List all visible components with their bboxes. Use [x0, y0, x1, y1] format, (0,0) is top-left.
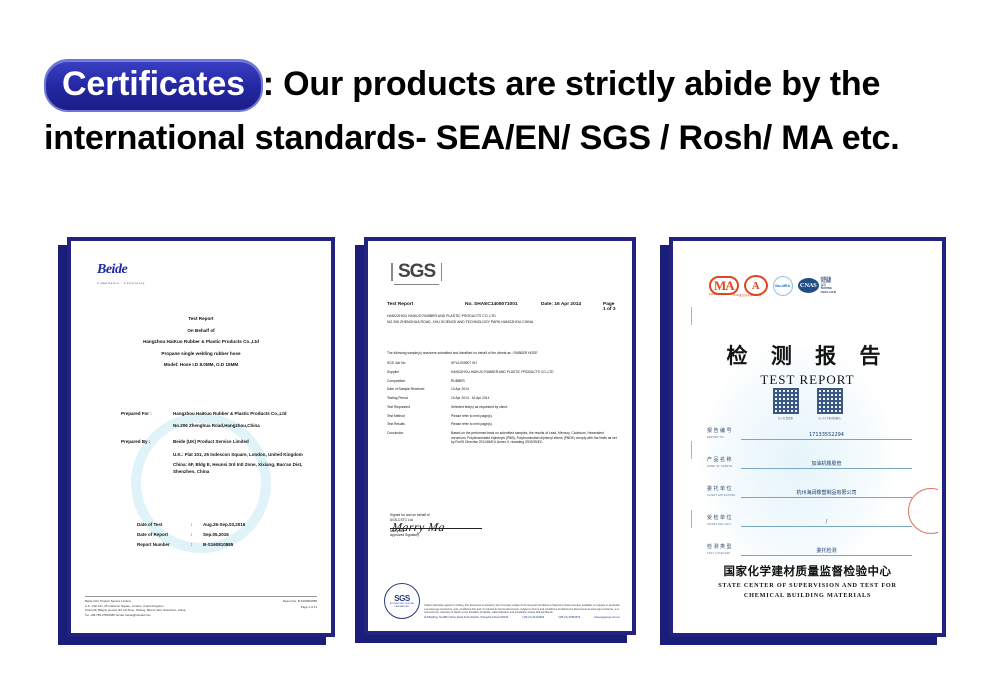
- sgs-accreditation-seal: SGS ACCREDITED TESTING LABORATORY: [384, 583, 420, 619]
- certificates-badge: Certificates: [44, 59, 263, 112]
- date-colon: :: [191, 540, 203, 550]
- row-key: Supplier: [387, 370, 451, 375]
- red-stamp-icon: [908, 488, 938, 534]
- row-value: Selected test(s) as requested by client.: [451, 405, 618, 410]
- decor-rule: [691, 510, 692, 528]
- qr-caption: 扫一扫 查真伪: [773, 416, 799, 420]
- sgs-client-address: HANGZHOU HAIKUO RUBBER AND PLASTIC PRODU…: [387, 313, 618, 326]
- row-key: Test Method: [387, 414, 451, 419]
- field-label: 产品名称 NAME OF SAMPLE: [707, 458, 741, 469]
- field-label: 委托单位 CLIENT ENTRUSTED: [707, 487, 741, 498]
- date-of-report-value: Sep.05,2016: [203, 530, 229, 540]
- certificate-ma[interactable]: MA A ilac-MRA CNAS 中国合格 评定国家 认可 TESTING …: [660, 237, 937, 637]
- certificate-sgs[interactable]: SGS Test Report No. SHAEC1405071001 Date…: [355, 237, 627, 635]
- beide-center-line: Test Report: [75, 313, 327, 325]
- seal-text: SGS: [394, 594, 409, 603]
- qr-code-row: 扫一扫 查真伪 扫一扫 手机浏览报告: [677, 388, 938, 420]
- org-name-english-line1: STATE CENTER OF SUPERVISION AND TEST FOR: [677, 582, 938, 589]
- date-row: Report Number : B-S160810885: [137, 540, 245, 550]
- headline-line1: Our products are strictly abide by the: [283, 65, 880, 103]
- sgs-address: 3rd Building, No.889 Yishan Road Xuhui D…: [424, 616, 508, 619]
- table-row: Supplier HANGZHOU HAIKUO RUBBER AND PLAS…: [387, 370, 618, 375]
- sgs-report-page: Page 1 of 3: [603, 302, 616, 312]
- date-of-test-value: Aug.26-Sep.03,2016: [203, 520, 245, 530]
- logo-code-row: 1900021112087 2013(量)认证字(Z0145)号: [709, 293, 761, 297]
- prepared-for-address: No.206 Zhenghua Road,Hangzhou,China: [173, 420, 313, 432]
- sgs-fax: f (86-21) 64953679: [558, 616, 580, 619]
- beide-center-line: Propane single welding rubber hose: [75, 348, 327, 360]
- field-label-en: TEST CATEGORY: [707, 551, 741, 557]
- certificate-page: MA A ilac-MRA CNAS 中国合格 评定国家 认可 TESTING …: [677, 245, 938, 629]
- field-value: /: [741, 519, 912, 528]
- cnas-icon: CNAS: [798, 278, 819, 293]
- ma-field-list: 报告编号 REPORT NO. 17133552294 产品名称 NAME OF…: [707, 429, 912, 574]
- row-key: Composition: [387, 379, 451, 384]
- field-row: 检测类型 TEST CATEGORY 委托检测: [707, 545, 912, 556]
- row-key: Test Results: [387, 422, 451, 427]
- qr-icon: [817, 388, 843, 414]
- qr-code-mobile[interactable]: 扫一扫 手机浏览报告: [817, 388, 843, 420]
- beide-center-block: Test Report On Behalf of Hangzhou HaiKuo…: [75, 313, 327, 371]
- date-colon: :: [191, 530, 203, 540]
- row-key: Date of Sample Received: [387, 387, 451, 392]
- field-label-en: REPORT NO.: [707, 435, 741, 441]
- field-label-en: NAME OF SAMPLE: [707, 464, 741, 470]
- field-value: 17133552294: [741, 432, 912, 441]
- row-value: SP14-009907 SH: [451, 361, 618, 366]
- footer-page-no: Page 1 of 11: [283, 605, 317, 611]
- certificate-beide[interactable]: Beide Compliance · Laboratory Test Repor…: [58, 237, 326, 637]
- footer-line: Tel: +86-755-27834088, Email: beide@hotm…: [85, 613, 185, 617]
- headline-colon: :: [263, 65, 274, 103]
- beide-logo-text: Beide: [97, 262, 127, 277]
- row-value: Based on the performed tests on submitte…: [451, 431, 618, 445]
- table-row: Composition RUBBER: [387, 379, 618, 384]
- beide-center-line: On Behalf of: [75, 325, 327, 337]
- sgs-report-title: Test Report: [387, 302, 465, 312]
- sgs-contact-row: 3rd Building, No.889 Yishan Road Xuhui D…: [424, 616, 620, 619]
- title-chinese: 检 测 报 告: [677, 340, 938, 370]
- row-key: Testing Period: [387, 396, 451, 401]
- prepared-for-name: Hangzhou HaiKuo Rubber & Plastic Product…: [173, 408, 287, 420]
- field-row: 报告编号 REPORT NO. 17133552294: [707, 429, 912, 440]
- certificates-row: Beide Compliance · Laboratory Test Repor…: [0, 237, 1000, 647]
- field-label: 检测类型 TEST CATEGORY: [707, 545, 741, 556]
- date-of-report-label: Date of Report: [137, 530, 191, 540]
- fine-print-text: Unless otherwise agreed in writing, this…: [424, 604, 620, 614]
- sgs-report-no: No. SHAEC1405071001: [465, 302, 541, 312]
- field-label: 受检单位 INSPECTED UNIT: [707, 516, 741, 527]
- report-number-label: Report Number: [137, 540, 191, 550]
- table-row: Conclusion Based on the performed tests …: [387, 431, 618, 445]
- decor-rule: [691, 307, 692, 325]
- headline-line2: international standards- SEA/EN/ SGS / R…: [44, 112, 970, 164]
- org-name-chinese: 国家化学建材质量监督检验中心: [677, 563, 938, 579]
- field-row: 产品名称 NAME OF SAMPLE 加油机橡胶管: [707, 458, 912, 469]
- sgs-website: www.sgsgroup.com.cn: [594, 616, 620, 619]
- handwritten-signature: Marry Ma: [392, 525, 482, 530]
- cnas-line: CNAS L0740: [821, 291, 836, 294]
- prepared-for-label: Prepared For :: [121, 408, 173, 420]
- field-label-en: INSPECTED UNIT: [707, 522, 741, 528]
- table-row: Date of Sample Received 10 Apr 2014: [387, 387, 618, 392]
- field-value: 加油机橡胶管: [741, 460, 912, 470]
- issuing-organization: 国家化学建材质量监督检验中心 STATE CENTER OF SUPERVISI…: [677, 563, 938, 599]
- ma-title-block: 检 测 报 告 TEST REPORT: [677, 340, 938, 388]
- org-name-english-line2: CHEMICAL BUILDING MATERIALS: [677, 592, 938, 599]
- report-number-value: B-S160810885: [203, 540, 233, 550]
- certificate-frame: Beide Compliance · Laboratory Test Repor…: [67, 237, 335, 637]
- page-headline: Certificates: Our products are strictly …: [44, 58, 970, 164]
- ma-code: 1900021112087: [709, 293, 727, 297]
- cnas-caption: 中国合格 评定国家 认可 TESTING CNAS L0740: [821, 277, 836, 294]
- date-of-test-label: Date of Test: [137, 520, 191, 530]
- beide-parties-block: Prepared For : Hangzhou HaiKuo Rubber & …: [121, 408, 313, 475]
- certificate-page: SGS Test Report No. SHAEC1405071001 Date…: [372, 245, 628, 627]
- row-value: Please refer to next page(s).: [451, 414, 618, 419]
- beide-dates-block: Date of Test : Aug.26-Sep.03,2016 Date o…: [137, 520, 245, 550]
- date-colon: :: [191, 520, 203, 530]
- prepared-for-row: Prepared For : Hangzhou HaiKuo Rubber & …: [121, 408, 313, 420]
- row-value: 10 Apr 2014 - 16 Apr 2014: [451, 396, 618, 401]
- field-value: 委托检测: [741, 547, 912, 557]
- sgs-intro-text: The following sample(s) was/were submitt…: [387, 351, 618, 356]
- certificate-page: Beide Compliance · Laboratory Test Repor…: [75, 245, 327, 629]
- certificate-frame: SGS Test Report No. SHAEC1405071001 Date…: [364, 237, 636, 635]
- title-english: TEST REPORT: [677, 372, 938, 388]
- beide-footer: Beide (UK) Product Service Limited U.K.:…: [85, 596, 317, 617]
- prepared-by-label: Prepared By :: [121, 436, 173, 448]
- beide-logo: Beide Compliance · Laboratory: [97, 263, 145, 290]
- sgs-header-row: Test Report No. SHAEC1405071001 Date: 16…: [387, 302, 616, 312]
- field-value: 杭州海阔橡塑制品有限公司: [741, 489, 912, 499]
- table-row: Testing Period 10 Apr 2014 - 16 Apr 2014: [387, 396, 618, 401]
- table-row: Test Requested Selected test(s) as reque…: [387, 405, 618, 410]
- sgs-tel: t (86-21) 61402666: [522, 616, 544, 619]
- prepared-by-address-uk: U.K.: Flat 101, 25 Indescon Square, Lond…: [173, 451, 313, 458]
- cnas-logo: CNAS 中国合格 评定国家 认可 TESTING CNAS L0740: [798, 277, 836, 294]
- client-line: NO.206 ZHENGHUA ROAD, XHU SCIENCE AND TE…: [387, 319, 618, 325]
- beide-center-line: Hangzhou HaiKuo Rubber & Plastic Product…: [75, 336, 327, 348]
- qr-caption: 扫一扫 手机浏览报告: [817, 416, 843, 420]
- qr-code-verify[interactable]: 扫一扫 查真伪: [773, 388, 799, 420]
- row-value: Please refer to next page(s).: [451, 422, 618, 427]
- field-row: 委托单位 CLIENT ENTRUSTED 杭州海阔橡塑制品有限公司: [707, 487, 912, 498]
- row-value: RUBBER: [451, 379, 618, 384]
- row-value: 10 Apr 2014: [451, 387, 618, 392]
- table-row: SGS Job No. SP14-009907 SH: [387, 361, 618, 366]
- prepared-by-address-cn: China: 6F, Bldg E, Heunsi 3rd Intl Zone,…: [173, 461, 313, 475]
- table-row: Test Method Please refer to next page(s)…: [387, 414, 618, 419]
- cal-code: 2013(量)认证字(Z0145)号: [733, 293, 761, 297]
- sgs-signature-block: Signed for and on behalf of SGS-CSTC Ltd…: [390, 513, 482, 538]
- qr-icon: [773, 388, 799, 414]
- certificate-frame: MA A ilac-MRA CNAS 中国合格 评定国家 认可 TESTING …: [669, 237, 946, 637]
- date-row: Date of Report : Sep.05,2016: [137, 530, 245, 540]
- signatory-role: Approved Signatory: [390, 533, 482, 538]
- prepared-by-name: Beide (UK) Product Service Limited: [173, 436, 249, 448]
- row-key: SGS Job No.: [387, 361, 451, 366]
- beide-center-line: Model: Hose I.D 8.0MM, O.D 15MM: [75, 359, 327, 371]
- field-row: 受检单位 INSPECTED UNIT /: [707, 516, 912, 527]
- beide-footer-left: Beide (UK) Product Service Limited U.K.:…: [85, 599, 185, 617]
- field-label: 报告编号 REPORT NO.: [707, 429, 741, 440]
- date-row: Date of Test : Aug.26-Sep.03,2016: [137, 520, 245, 530]
- seal-subtext: ACCREDITED TESTING LABORATORY: [385, 603, 419, 609]
- sgs-report-date: Date: 16 Apr 2014: [541, 302, 603, 312]
- row-key: Test Requested: [387, 405, 451, 410]
- row-value: HANGZHOU HAIKUO RUBBER AND PLASTIC PRODU…: [451, 370, 618, 375]
- sgs-logo: SGS: [394, 261, 439, 285]
- table-row: Test Results Please refer to next page(s…: [387, 422, 618, 427]
- beide-footer-right: Report No. B-S160810885 Page 1 of 11: [283, 599, 317, 617]
- beide-logo-subtitle: Compliance · Laboratory: [97, 277, 145, 290]
- ilac-mra-icon: ilac-MRA: [773, 276, 793, 296]
- row-key: Conclusion: [387, 431, 451, 445]
- sgs-detail-table: SGS Job No. SP14-009907 SH Supplier HANG…: [387, 361, 618, 449]
- decor-rule: [691, 441, 692, 459]
- sgs-fine-print: Unless otherwise agreed in writing, this…: [424, 604, 620, 619]
- footer-line: China 6F, Bldg E, Heunsi 3rd Intl Zone, …: [85, 608, 185, 612]
- sgs-footer: SGS ACCREDITED TESTING LABORATORY Unless…: [384, 583, 620, 619]
- prepared-by-row: Prepared By : Beide (UK) Product Service…: [121, 436, 313, 448]
- field-label-en: CLIENT ENTRUSTED: [707, 493, 741, 499]
